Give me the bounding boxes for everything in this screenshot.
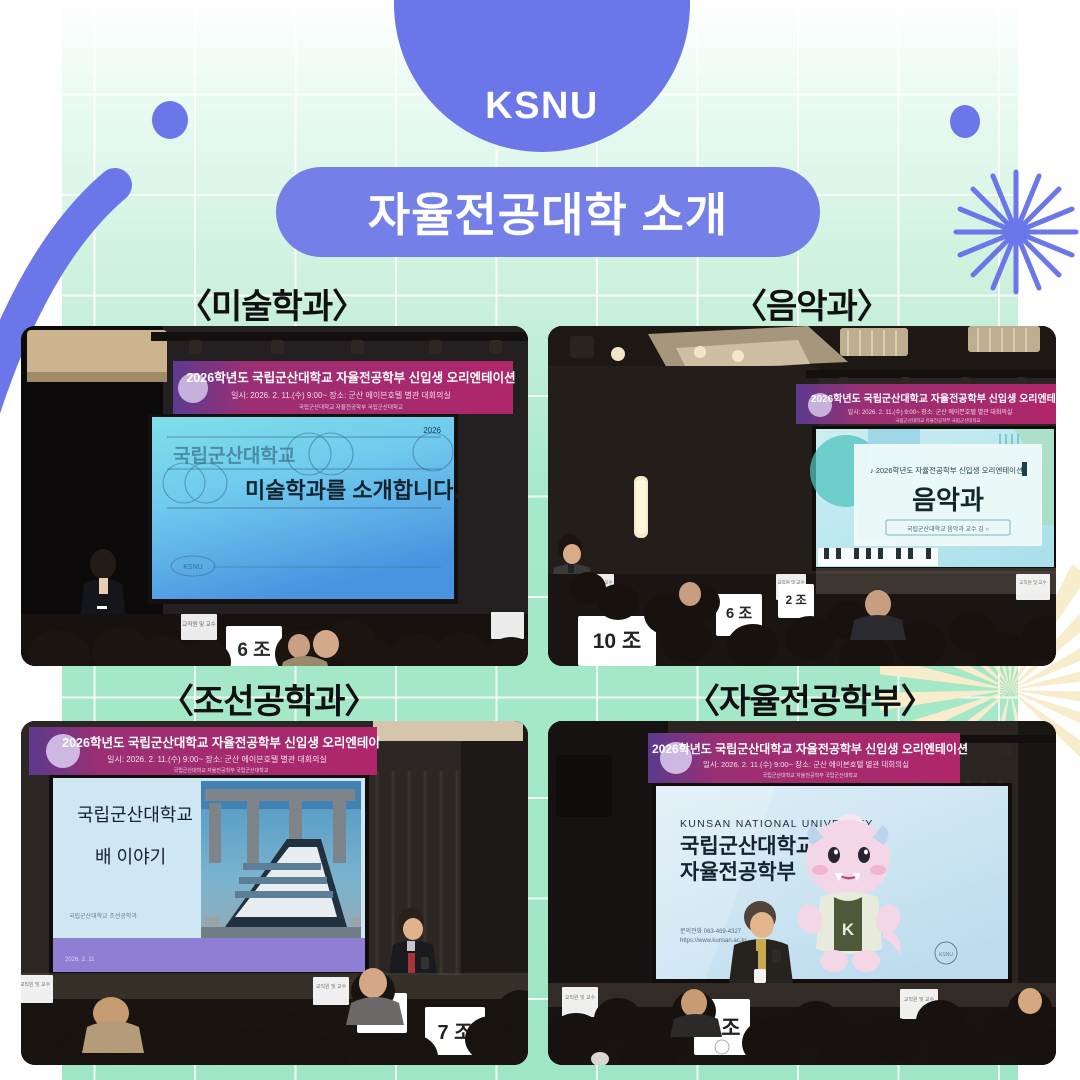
svg-text:2 조: 2 조 xyxy=(785,593,806,607)
svg-text:국립군산대학교 자율전공학부 국립군산대학교: 국립군산대학교 자율전공학부 국립군산대학교 xyxy=(895,417,980,424)
svg-text:6 조: 6 조 xyxy=(237,640,270,661)
page-title-pill: 자율전공대학 소개 xyxy=(276,167,820,257)
svg-text:국립군산대학교: 국립군산대학교 xyxy=(173,445,295,467)
svg-text:교직원 및 교수: 교직원 및 교수 xyxy=(1019,579,1046,586)
starburst-icon xyxy=(952,168,1080,296)
svg-text:2026학년도 국립군산대학교 자율전공학부 신입생 오리엔: 2026학년도 국립군산대학교 자율전공학부 신입생 오리엔테이션 xyxy=(652,741,968,756)
svg-text:2026학년도 국립군산대학교 자율전공학부 신입생 오리엔: 2026학년도 국립군산대학교 자율전공학부 신입생 오리엔테이션 xyxy=(186,370,515,385)
svg-text:2026학년도 국립군산대학교 자율전공학부 신입생 오리엔: 2026학년도 국립군산대학교 자율전공학부 신입생 오리엔테이 xyxy=(62,735,380,750)
svg-text:https://www.kunsan.ac.kr: https://www.kunsan.ac.kr xyxy=(680,938,746,944)
svg-text:일시: 2026. 2. 11.(수) 9:00~ 장소: 일시: 2026. 2. 11.(수) 9:00~ 장소: 군산 에이븐호텔 별… xyxy=(848,408,1013,416)
svg-text:교직원 및 교수: 교직원 및 교수 xyxy=(316,983,347,990)
svg-text:교직원 및 교수: 교직원 및 교수 xyxy=(21,981,51,988)
svg-text:일시: 2026. 2. 11.(수) 9:00~: 일시: 2026. 2. 11.(수) 9:00~ 장소: 군산 에이븐호텔 별… xyxy=(107,754,327,764)
svg-text:음악과: 음악과 xyxy=(912,485,984,515)
dot-decoration-left xyxy=(152,101,188,139)
photo-card-naval: 2026학년도 국립군산대학교 자율전공학부 신입생 오리엔테이 일시: 202… xyxy=(21,721,528,1065)
svg-text:6 조: 6 조 xyxy=(726,605,753,622)
photo-card-art: 2026학년도 국립군산대학교 자율전공학부 신입생 오리엔테이션 일시: 20… xyxy=(21,326,528,666)
page-title: 자율전공대학 소개 xyxy=(368,179,728,245)
svg-text:국립군산대학교 조선공학과: 국립군산대학교 조선공학과 xyxy=(69,912,137,920)
svg-text:국립군산대학교 자율전공학부 국립군산대학교: 국립군산대학교 자율전공학부 국립군산대학교 xyxy=(299,403,403,411)
svg-text:문의전화 063-469-4327: 문의전화 063-469-4327 xyxy=(680,927,742,935)
svg-text:국립군산대학교: 국립군산대학교 xyxy=(77,805,193,825)
section-label-naval: 〈조선공학과〉 xyxy=(160,674,377,723)
dot-decoration-right xyxy=(950,105,980,138)
svg-text:국립군산대학교 자율전공학부 국립군산대학교: 국립군산대학교 자율전공학부 국립군산대학교 xyxy=(174,767,269,774)
svg-text:일시: 2026. 2. 11.(수) 9:00~ 장: 일시: 2026. 2. 11.(수) 9:00~ 장소: 군산 에이븐호텔 별… xyxy=(703,759,909,769)
svg-text:K: K xyxy=(842,920,855,939)
svg-text:KSNU: KSNU xyxy=(183,564,202,571)
svg-text:국립군산대학교 자율전공학부 국립군산대학교: 국립군산대학교 자율전공학부 국립군산대학교 xyxy=(763,772,858,779)
svg-text:자율전공학부: 자율전공학부 xyxy=(680,861,796,884)
svg-text:10 조: 10 조 xyxy=(593,630,642,653)
section-label-art: 〈미술학과〉 xyxy=(178,279,365,328)
svg-text:미술학과를 소개합니다.: 미술학과를 소개합니다. xyxy=(245,478,460,503)
photo-card-free-major: 2026학년도 국립군산대학교 자율전공학부 신입생 오리엔테이션 일시: 20… xyxy=(548,721,1056,1065)
svg-text:교직원 및 교수: 교직원 및 교수 xyxy=(182,620,215,628)
svg-text:♪ 2026학년도 자율전공학부 신입생 오리엔테이션: ♪ 2026학년도 자율전공학부 신입생 오리엔테이션 xyxy=(870,465,1023,475)
svg-text:일시: 2026. 2. 11.(수) 9:00~: 일시: 2026. 2. 11.(수) 9:00~ 장소: 군산 에이븐호텔 별… xyxy=(231,390,451,400)
svg-text:국립군산대학교 음악과 교수 김 ○: 국립군산대학교 음악과 교수 김 ○ xyxy=(907,525,989,533)
section-label-music: 〈음악과〉 xyxy=(733,279,890,328)
svg-text:2026학년도 국립군산대학교 자율전공학부 신입생 오리엔: 2026학년도 국립군산대학교 자율전공학부 신입생 오리엔테이 xyxy=(811,392,1056,405)
svg-text:배 이야기: 배 이야기 xyxy=(95,847,166,867)
svg-text:교직원 및 교수: 교직원 및 교수 xyxy=(565,994,596,1001)
svg-text:2026. 2. 11: 2026. 2. 11 xyxy=(65,957,95,963)
photo-card-music: 2026학년도 국립군산대학교 자율전공학부 신입생 오리엔테이 일시: 202… xyxy=(548,326,1056,666)
section-label-free-major: 〈자율전공학부〉 xyxy=(686,674,934,723)
ksnu-badge-label: KSNU xyxy=(485,85,599,128)
poster-canvas: KSNU 자율전공대학 소개 〈미술학과〉 〈음악과〉 〈조선공학과〉 〈자율전… xyxy=(0,0,1080,1080)
svg-text:국립군산대학교: 국립군산대학교 xyxy=(680,835,815,858)
svg-text:KSNU: KSNU xyxy=(939,952,953,958)
